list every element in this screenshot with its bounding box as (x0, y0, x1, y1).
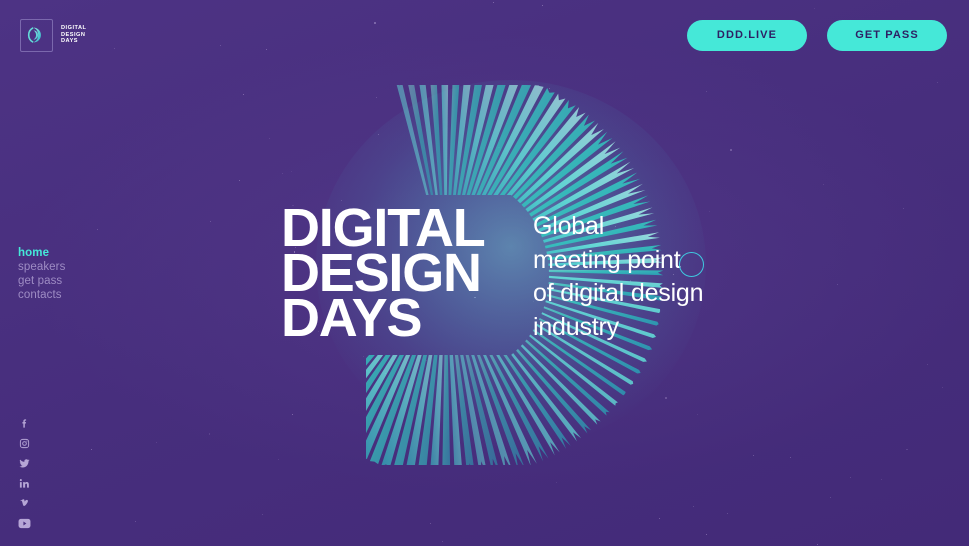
brand-line-2: DESIGN (61, 32, 86, 39)
vimeo-icon[interactable] (18, 497, 31, 510)
brand-name: DIGITAL DESIGN DAYS (61, 25, 86, 45)
ddd-crescent-logo-icon (20, 19, 53, 52)
sidebar-item-speakers[interactable]: speakers (18, 260, 65, 274)
linkedin-icon[interactable] (18, 477, 31, 490)
hero-tagline: Global meeting point of digital design i… (533, 210, 703, 344)
get-pass-button[interactable]: GET PASS (827, 20, 947, 51)
page-title: DIGITAL DESIGN DAYS (281, 206, 485, 341)
sidebar-item-get-pass[interactable]: get pass (18, 274, 65, 288)
instagram-icon[interactable] (18, 437, 31, 450)
sidebar-item-contacts[interactable]: contacts (18, 288, 65, 302)
ddd-live-button[interactable]: DDD.LIVE (687, 20, 807, 51)
header-actions: DDD.LIVE GET PASS (687, 20, 947, 51)
facebook-icon[interactable] (18, 417, 31, 430)
brand-line-1: DIGITAL (61, 25, 86, 32)
tagline-line-3: of digital design (533, 277, 703, 311)
social-rail (18, 417, 31, 530)
tagline-line-4: industry (533, 311, 703, 345)
brand-line-3: DAYS (61, 38, 86, 45)
youtube-icon[interactable] (18, 517, 31, 530)
tagline-line-1: Global (533, 210, 703, 244)
twitter-icon[interactable] (18, 457, 31, 470)
tagline-line-2: meeting point (533, 244, 703, 278)
hero-stage: DIGITAL DESIGN DAYS DDD.LIVE GET PASS ho… (0, 0, 969, 546)
top-bar: DIGITAL DESIGN DAYS DDD.LIVE GET PASS (0, 0, 969, 70)
brand-logo[interactable]: DIGITAL DESIGN DAYS (20, 19, 86, 52)
sidebar-item-home[interactable]: home (18, 246, 65, 260)
sidebar-nav: home speakers get pass contacts (18, 246, 65, 302)
